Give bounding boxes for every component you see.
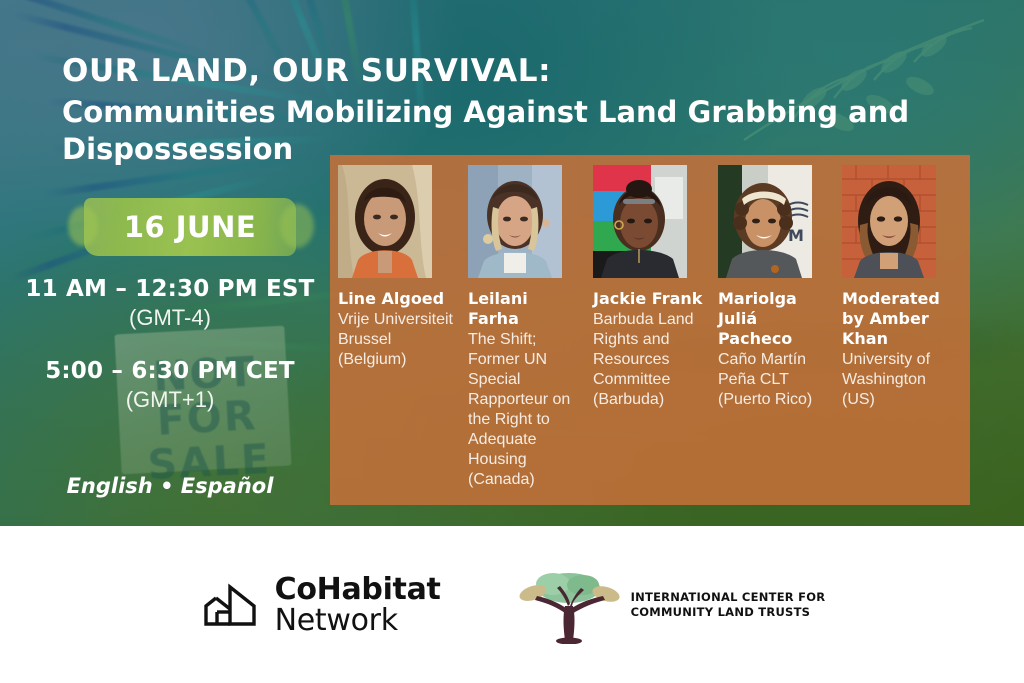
logo-cohabitat-line2: Network [275,605,441,636]
logo-row: CoHabitat Network [0,526,1024,683]
tree-icon [513,566,625,644]
speaker-card: Moderated by Amber Khan University of Wa… [842,165,966,410]
portrait-line-algoed-icon [338,165,432,278]
page-subtitle: Communities Mobilizing Against Land Grab… [62,94,982,168]
time-secondary-zone: (GMT+1) [20,387,320,413]
speaker-name: Mariolga Juliá Pacheco [718,289,830,349]
portrait-mariolga-julia-pacheco-icon: M [718,165,812,278]
time-block: 11 AM – 12:30 PM EST (GMT-4) 5:00 – 6:30… [20,276,320,413]
portrait-amber-khan-icon [842,165,936,278]
speaker-photo [338,165,432,278]
time-secondary: 5:00 – 6:30 PM CET [20,358,320,384]
speaker-card: Jackie Frank Barbuda Land Rights and Res… [593,165,718,410]
headline-block: OUR LAND, OUR SURVIVAL: Communities Mobi… [62,54,992,168]
logo-cohabitat-network[interactable]: CoHabitat Network [199,574,441,636]
house-outline-icon [199,581,261,629]
speaker-photo: M [718,165,812,278]
speaker-org: Caño Martín Peña CLT (Puerto Rico) [718,350,830,410]
date-badge-label: 16 JUNE [84,198,296,256]
time-spacer [20,331,320,358]
speaker-org: Vrije Universiteit Brussel (Belgium) [338,310,456,370]
portrait-leilani-farha-icon [468,165,562,278]
logo-iclt[interactable]: INTERNATIONAL CENTER FOR COMMUNITY LAND … [513,566,826,644]
speaker-name: Line Algoed [338,289,456,309]
speakers-list: Line Algoed Vrije Universiteit Brussel (… [338,165,966,490]
time-primary-zone: (GMT-4) [20,305,320,331]
logo-iclt-line2: COMMUNITY LAND TRUSTS [631,605,826,620]
speaker-card: M Mariolga Juliá Pacheco Caño [718,165,842,410]
speaker-photo [593,165,687,278]
logo-iclt-line1: INTERNATIONAL CENTER FOR [631,590,826,605]
speaker-org: The Shift; Former UN Special Rapporteur … [468,330,581,490]
date-badge: 16 JUNE [84,198,296,256]
speaker-name: Jackie Frank [593,289,706,309]
speaker-card: Leilani Farha The Shift; Former UN Speci… [468,165,593,490]
time-primary: 11 AM – 12:30 PM EST [20,276,320,302]
speaker-name: Moderated by Amber Khan [842,289,954,349]
logo-cohabitat-text: CoHabitat Network [275,574,441,636]
speaker-card: Line Algoed Vrije Universiteit Brussel (… [338,165,468,370]
logo-iclt-text: INTERNATIONAL CENTER FOR COMMUNITY LAND … [631,590,826,620]
languages-label: English • Español [20,474,320,498]
poster-canvas: NOT FOR SALE OUR LAND, OUR S [0,0,1024,683]
speaker-photo [468,165,562,278]
portrait-jackie-frank-icon [593,165,687,278]
speaker-org: University of Washington (US) [842,350,954,410]
logo-cohabitat-line1: CoHabitat [275,574,441,605]
svg-text:M: M [788,226,804,245]
page-title: OUR LAND, OUR SURVIVAL: [62,54,992,88]
speaker-name: Leilani Farha [468,289,581,329]
speaker-photo [842,165,936,278]
footer-bar: CoHabitat Network [0,526,1024,683]
speaker-org: Barbuda Land Rights and Resources Commit… [593,310,706,410]
